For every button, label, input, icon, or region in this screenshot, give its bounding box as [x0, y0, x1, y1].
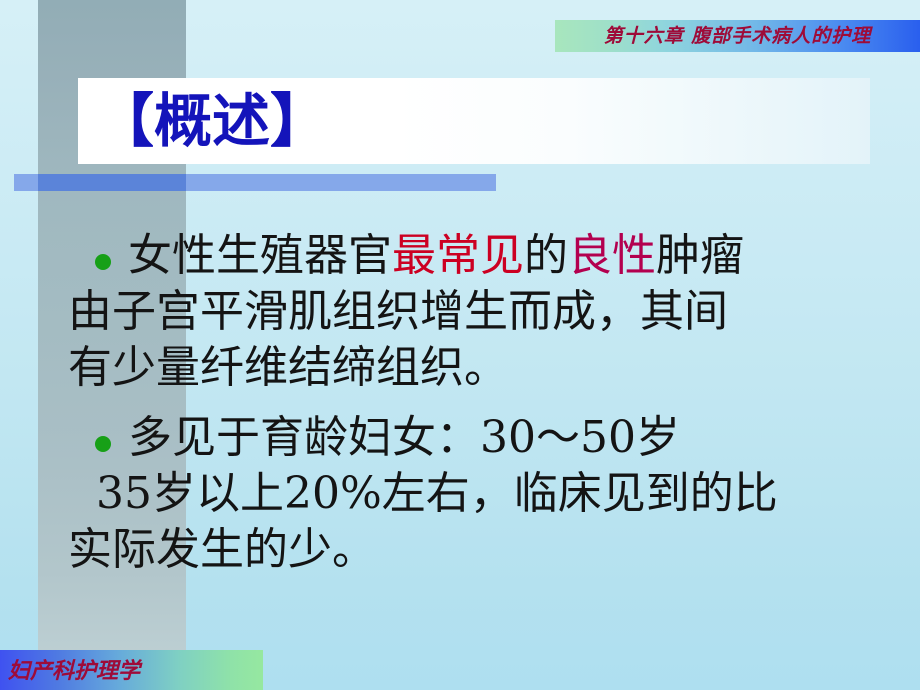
- bullet-text-segment: 女性生殖器官: [128, 230, 392, 281]
- bullet-item: 多见于育龄妇女：30～50岁 35岁以上20%左右，临床见到的比 实际发生的少。: [0, 410, 920, 578]
- presentation-slide: 第十六章 腹部手术病人的护理 【概述】 女性生殖器官最常见的良性肿瘤 由子宫平滑…: [0, 0, 920, 690]
- bullet-text-segment: 的: [524, 230, 568, 281]
- slide-title: 【概述】: [96, 82, 328, 160]
- bullet-text-highlight: 良性: [568, 230, 656, 281]
- bullet-line: 35岁以上20%左右，临床见到的比: [0, 466, 920, 522]
- footer-label: 妇产科护理学: [8, 650, 140, 690]
- bullet-line: 多见于育龄妇女：30～50岁: [0, 410, 920, 466]
- bullet-text-highlight: 最常见: [392, 230, 524, 281]
- chapter-banner: 第十六章 腹部手术病人的护理: [555, 20, 920, 52]
- bullet-line: 实际发生的少。: [0, 522, 920, 578]
- bullet-line: 由子宫平滑肌组织增生而成，其间: [0, 284, 920, 340]
- bullet-text-segment: 肿瘤: [656, 230, 744, 281]
- bullet-line: 有少量纤维结缔组织。: [0, 340, 920, 396]
- title-underline-bar-shade: [38, 174, 186, 191]
- bullet-line: 女性生殖器官最常见的良性肿瘤: [0, 228, 920, 284]
- footer-bar: 妇产科护理学: [0, 650, 263, 690]
- title-band: 【概述】: [78, 78, 870, 164]
- chapter-banner-label: 第十六章 腹部手术病人的护理: [555, 20, 920, 52]
- bullet-item: 女性生殖器官最常见的良性肿瘤 由子宫平滑肌组织增生而成，其间 有少量纤维结缔组织…: [0, 228, 920, 396]
